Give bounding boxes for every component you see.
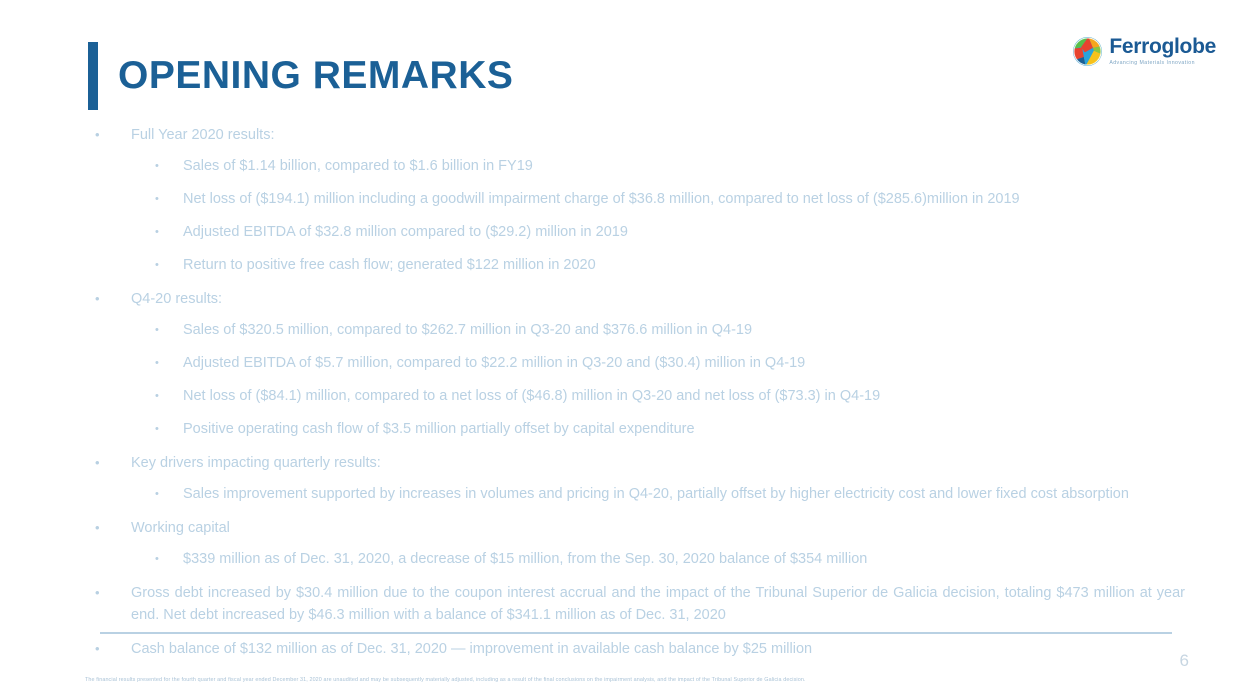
list-item: • Key drivers impacting quarterly result… xyxy=(95,452,1185,474)
bullet-icon: • xyxy=(155,221,183,243)
list-item-text: $339 million as of Dec. 31, 2020, a decr… xyxy=(183,548,1185,570)
title-accent-bar xyxy=(88,42,98,110)
footnote-disclaimer: The financial results presented for the … xyxy=(85,676,1160,685)
bullet-icon: • xyxy=(155,385,183,407)
bullet-icon: • xyxy=(95,638,131,660)
list-item-text: Adjusted EBITDA of $5.7 million, compare… xyxy=(183,352,1185,374)
list-item: • Net loss of ($194.1) million including… xyxy=(95,188,1185,210)
bullet-icon: • xyxy=(155,483,183,505)
bullet-icon: • xyxy=(155,352,183,374)
list-item: • Sales of $320.5 million, compared to $… xyxy=(95,319,1185,341)
list-item: • Sales improvement supported by increas… xyxy=(95,483,1185,505)
bullet-icon: • xyxy=(95,124,131,146)
list-item-text: Return to positive free cash flow; gener… xyxy=(183,254,1185,276)
list-item: • Full Year 2020 results: xyxy=(95,124,1185,146)
list-item-text: Sales of $320.5 million, compared to $26… xyxy=(183,319,1185,341)
bullet-icon: • xyxy=(95,517,131,539)
logo-tagline: Advancing Materials Innovation xyxy=(1109,59,1216,67)
bullet-icon: • xyxy=(155,188,183,210)
list-item: • Working capital xyxy=(95,517,1185,539)
list-item-text: Positive operating cash flow of $3.5 mil… xyxy=(183,418,1185,440)
bullet-icon: • xyxy=(155,155,183,177)
bullet-list: • Full Year 2020 results: • Sales of $1.… xyxy=(95,124,1185,669)
list-item: • $339 million as of Dec. 31, 2020, a de… xyxy=(95,548,1185,570)
page-number: 6 xyxy=(1180,650,1189,672)
list-item: • Gross debt increased by $30.4 million … xyxy=(95,582,1185,626)
bullet-icon: • xyxy=(155,418,183,440)
list-item-text: Gross debt increased by $30.4 million du… xyxy=(131,582,1185,626)
brand-logo: Ferroglobe Advancing Materials Innovatio… xyxy=(1073,36,1216,70)
list-item-text: Q4-20 results: xyxy=(131,288,1185,310)
list-item: • Positive operating cash flow of $3.5 m… xyxy=(95,418,1185,440)
page-title: OPENING REMARKS xyxy=(118,52,513,100)
list-item: • Cash balance of $132 million as of Dec… xyxy=(95,638,1185,660)
list-item-text: Sales of $1.14 billion, compared to $1.6… xyxy=(183,155,1185,177)
list-item-text: Adjusted EBITDA of $32.8 million compare… xyxy=(183,221,1185,243)
bullet-icon: • xyxy=(95,452,131,474)
list-item-text: Full Year 2020 results: xyxy=(131,124,1185,146)
list-item-text: Working capital xyxy=(131,517,1185,539)
bullet-icon: • xyxy=(95,582,131,604)
footer-divider xyxy=(100,632,1172,634)
list-item-text: Cash balance of $132 million as of Dec. … xyxy=(131,638,1185,660)
list-item-text: Net loss of ($194.1) million including a… xyxy=(183,188,1185,210)
list-item: • Adjusted EBITDA of $32.8 million compa… xyxy=(95,221,1185,243)
list-item: • Adjusted EBITDA of $5.7 million, compa… xyxy=(95,352,1185,374)
logo-wordmark: Ferroglobe xyxy=(1109,36,1216,58)
list-item-text: Net loss of ($84.1) million, compared to… xyxy=(183,385,1185,407)
list-item: • Sales of $1.14 billion, compared to $1… xyxy=(95,155,1185,177)
list-item-text: Key drivers impacting quarterly results: xyxy=(131,452,1185,474)
ferroglobe-globe-icon xyxy=(1073,37,1102,66)
bullet-icon: • xyxy=(155,254,183,276)
bullet-icon: • xyxy=(155,548,183,570)
list-item: • Return to positive free cash flow; gen… xyxy=(95,254,1185,276)
presentation-slide: Ferroglobe Advancing Materials Innovatio… xyxy=(0,0,1246,700)
bullet-icon: • xyxy=(95,288,131,310)
bullet-icon: • xyxy=(155,319,183,341)
list-item: • Q4-20 results: xyxy=(95,288,1185,310)
list-item-text: Sales improvement supported by increases… xyxy=(183,483,1185,505)
list-item: • Net loss of ($84.1) million, compared … xyxy=(95,385,1185,407)
